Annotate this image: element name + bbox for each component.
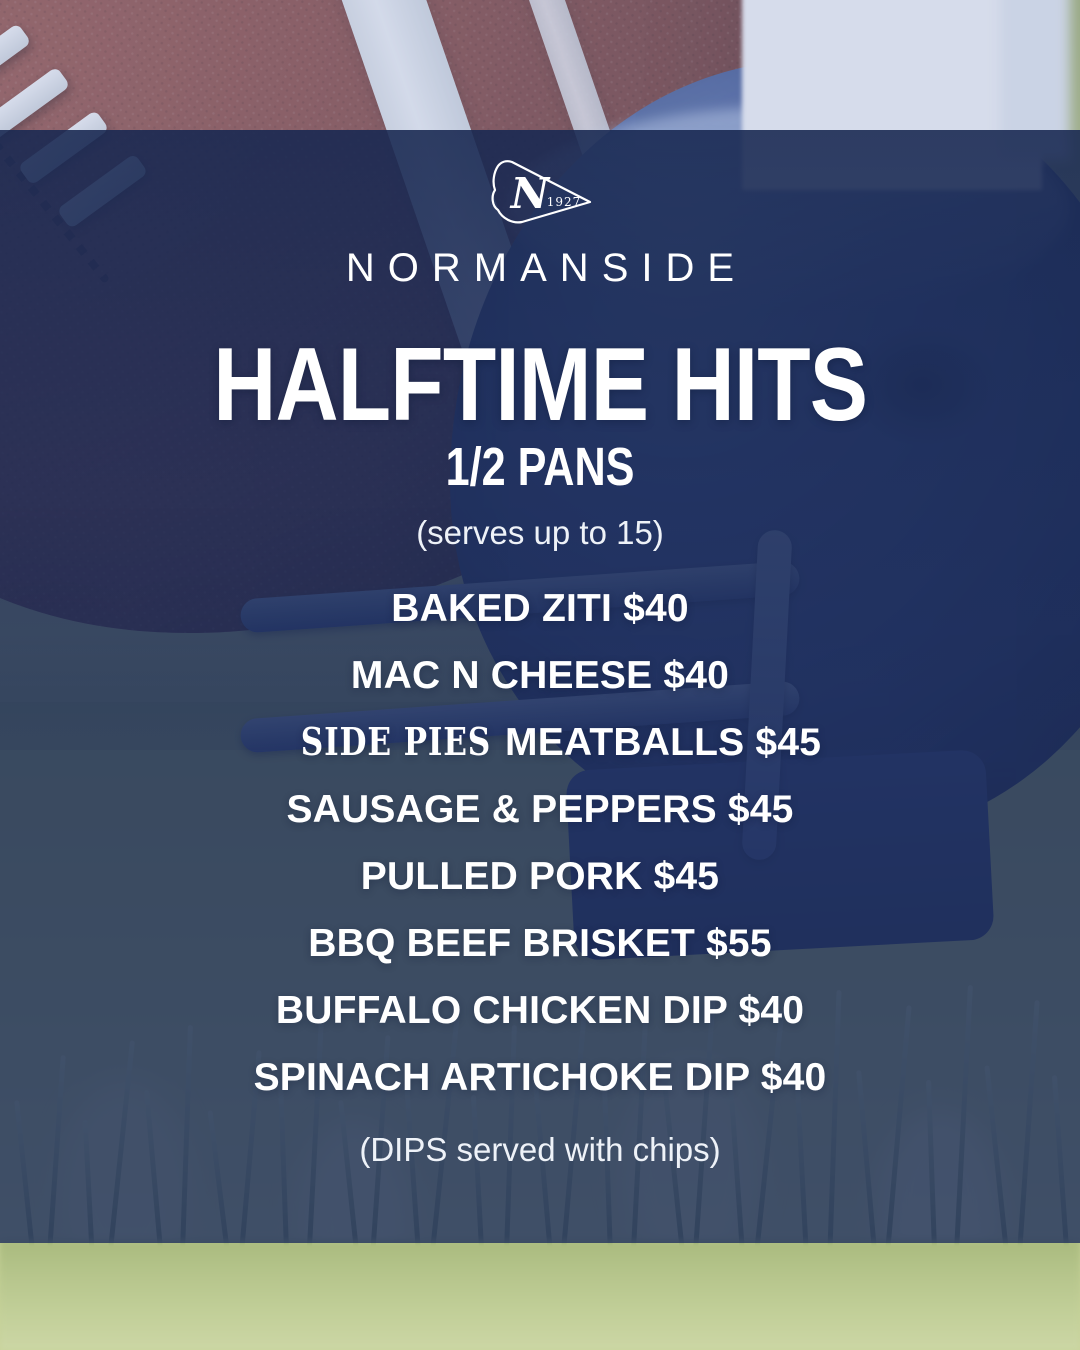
- brand-wordmark: NORMANSIDE: [333, 248, 747, 288]
- menu-list: BAKED ZITI $40 MAC N CHEESE $40 SIDE PIE…: [0, 575, 1080, 1111]
- menu-item: SPINACH ARTICHOKE DIP $40: [254, 1058, 827, 1097]
- poster-content: N 1927 NORMANSIDE HALFTIME HITS 1/2 PANS…: [0, 130, 1080, 1243]
- menu-item-label: MEATBALLS $45: [505, 723, 821, 762]
- bottom-grass-strip: [0, 1240, 1080, 1350]
- top-photo-tint: [0, 0, 1080, 130]
- menu-item: SAUSAGE & PEPPERS $45: [286, 790, 793, 829]
- menu-item-label: SAUSAGE & PEPPERS $45: [286, 790, 793, 829]
- page-subtitle: 1/2 PANS: [446, 440, 635, 494]
- menu-item: SIDE PIES MEATBALLS $45: [259, 723, 821, 762]
- menu-item: BBQ BEEF BRISKET $55: [308, 924, 771, 963]
- promo-poster: N 1927 NORMANSIDE HALFTIME HITS 1/2 PANS…: [0, 0, 1080, 1350]
- page-title: HALFTIME HITS: [213, 338, 867, 434]
- menu-item-label: BAKED ZITI $40: [391, 589, 689, 628]
- menu-item: BUFFALO CHICKEN DIP $40: [276, 991, 804, 1030]
- pennant-flag-icon: N 1927: [482, 156, 598, 234]
- menu-item-prefix: SIDE PIES: [301, 723, 491, 761]
- serves-note: (serves up to 15): [416, 516, 664, 549]
- menu-item-label: MAC N CHEESE $40: [351, 656, 729, 695]
- menu-item: MAC N CHEESE $40: [351, 656, 729, 695]
- menu-item-label: BUFFALO CHICKEN DIP $40: [276, 991, 804, 1030]
- menu-item-label: BBQ BEEF BRISKET $55: [308, 924, 771, 963]
- menu-item: PULLED PORK $45: [361, 857, 719, 896]
- menu-item-label: SPINACH ARTICHOKE DIP $40: [254, 1058, 827, 1097]
- svg-text:N: N: [509, 169, 551, 218]
- menu-footnote: (DIPS served with chips): [359, 1133, 720, 1166]
- brand-lockup: N 1927 NORMANSIDE: [333, 156, 747, 288]
- menu-item-label: PULLED PORK $45: [361, 857, 719, 896]
- svg-text:1927: 1927: [547, 195, 582, 209]
- menu-item: BAKED ZITI $40: [391, 589, 689, 628]
